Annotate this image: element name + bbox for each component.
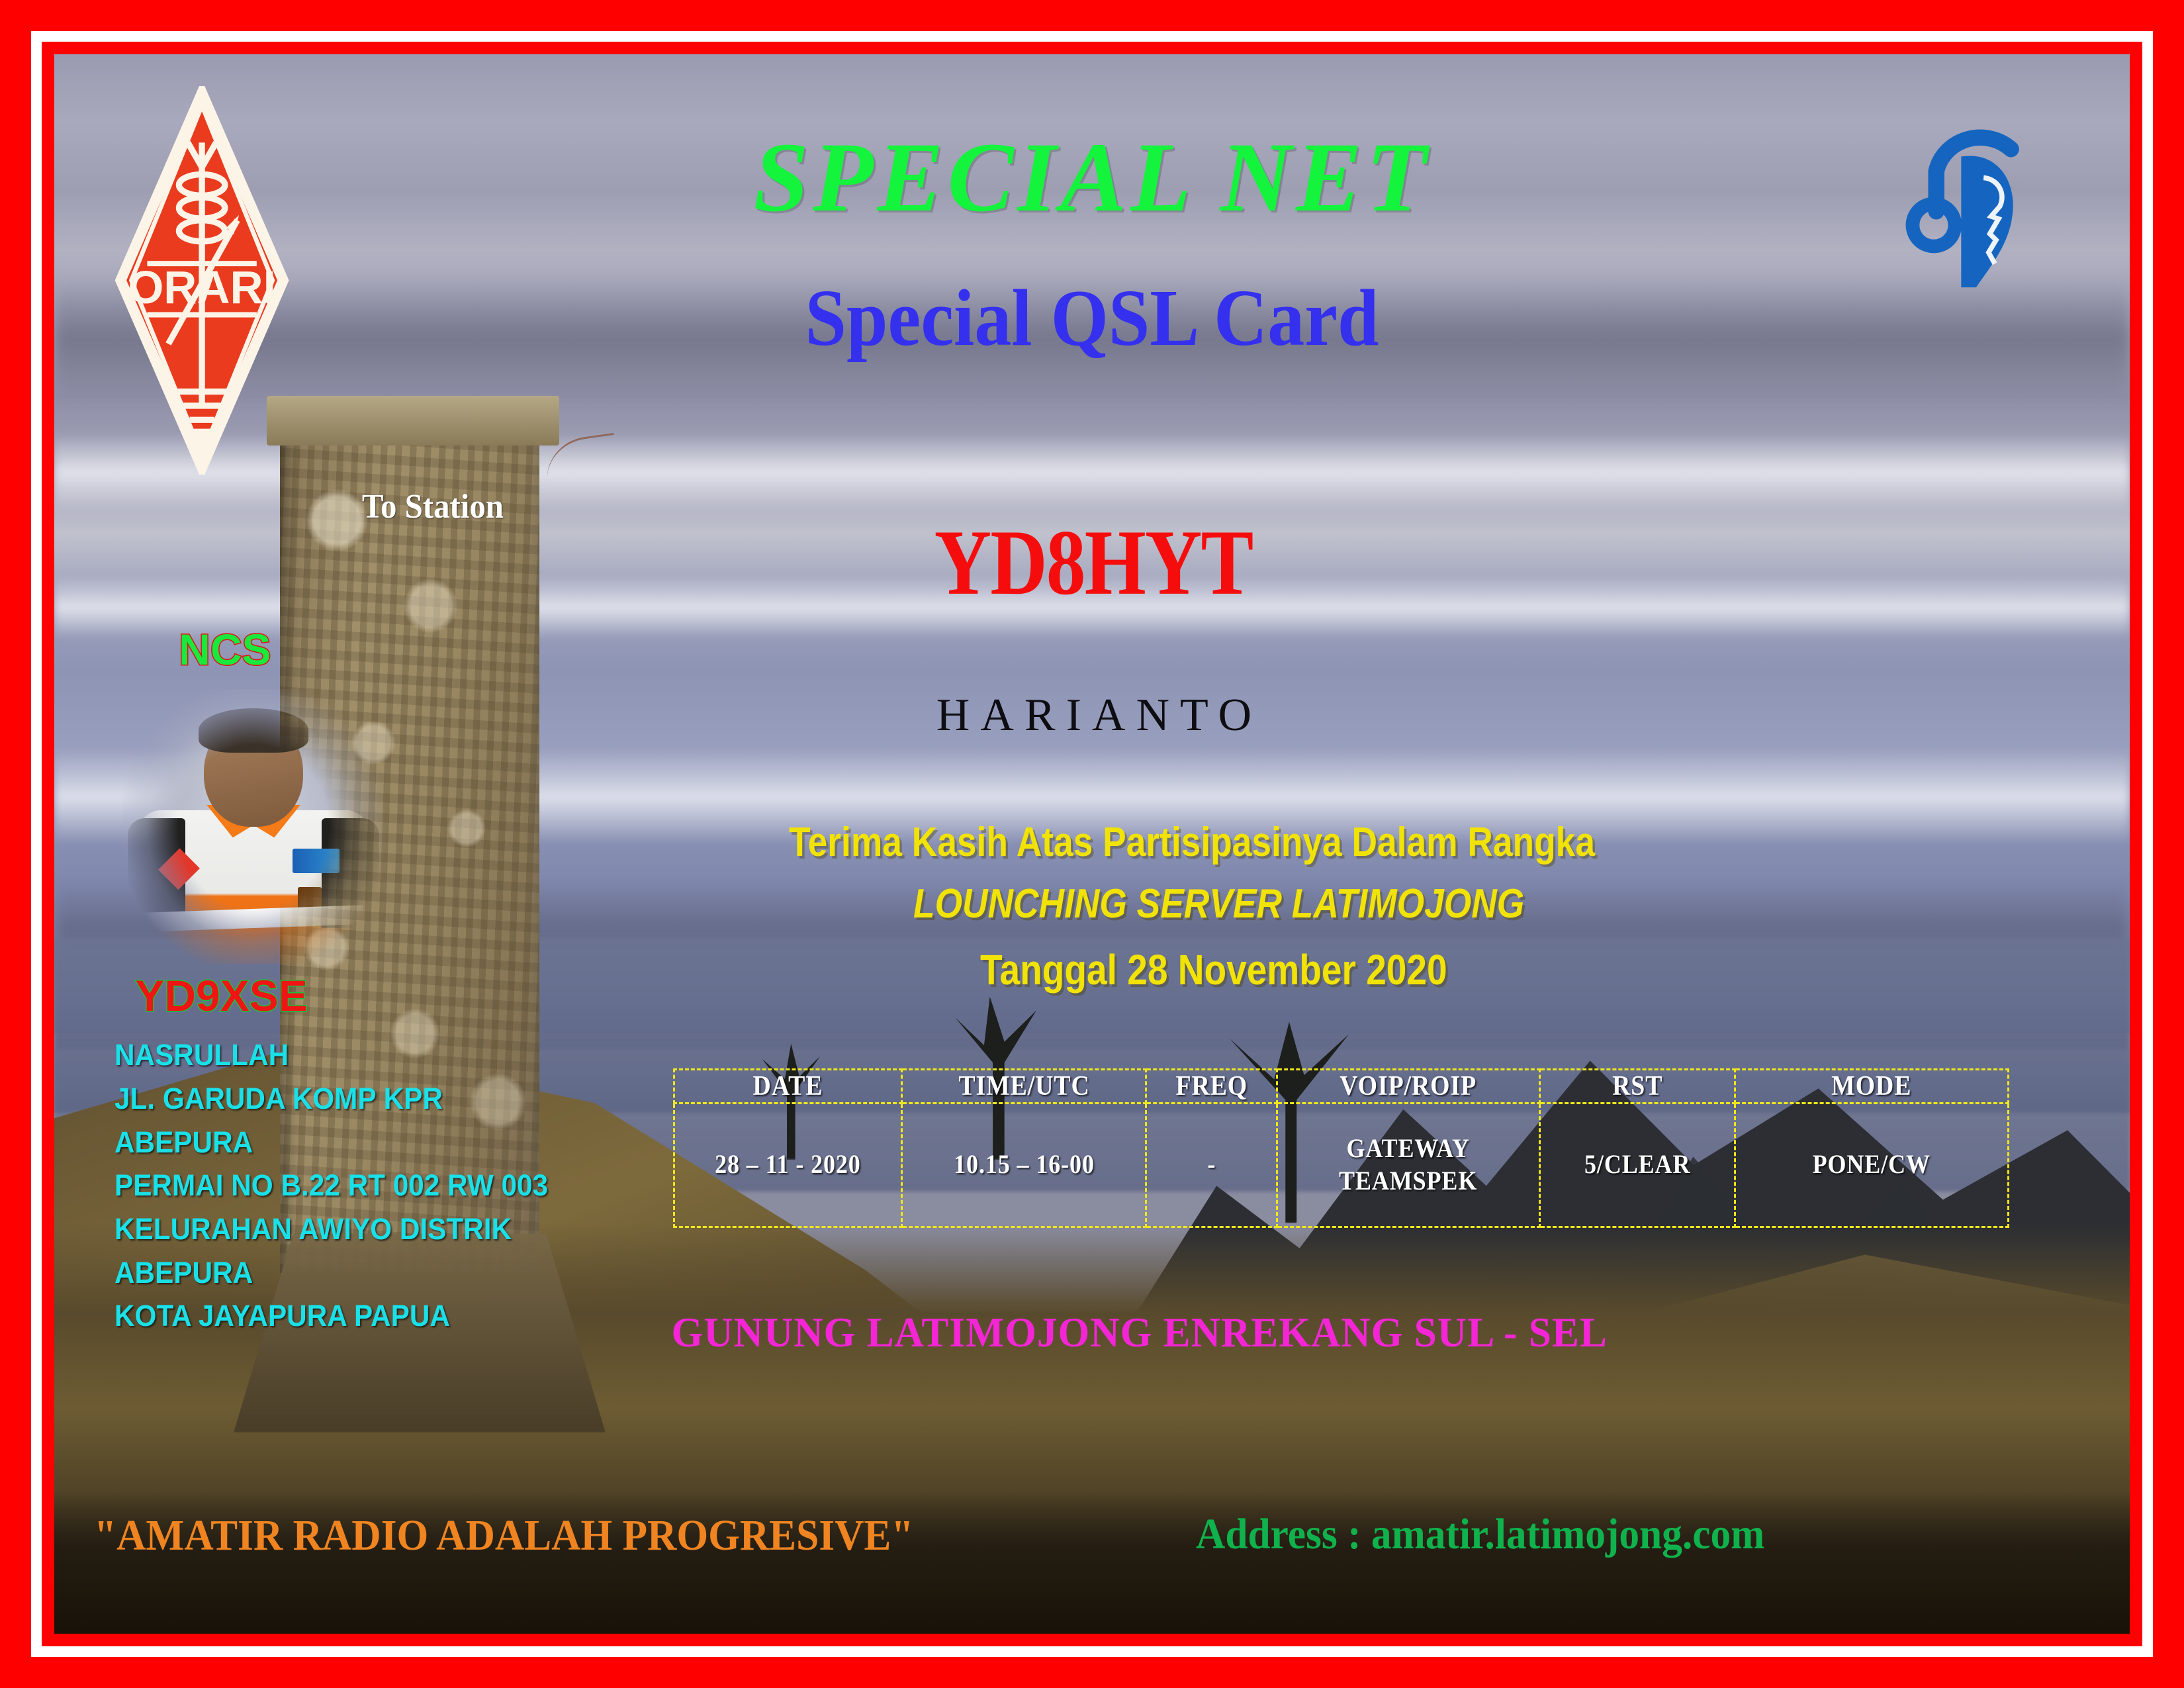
to-station-label: To Station xyxy=(362,487,504,526)
cell-voip-line1: GATEWAY xyxy=(1347,1133,1470,1163)
address-line: ABEPURA xyxy=(114,1251,548,1295)
address-line: KOTA JAYAPURA PAPUA xyxy=(114,1294,548,1338)
cell-time: 10.15 – 16-00 xyxy=(914,1103,1134,1227)
card-inner-red-border: ORARI xyxy=(42,42,2142,1646)
column-header-date: DATE xyxy=(685,1069,890,1103)
page-subtitle: Special QSL Card xyxy=(137,272,2046,365)
footer-web-address: Address : amatir.latimojong.com xyxy=(1196,1509,1764,1560)
column-header-rst: RST xyxy=(1549,1069,1725,1103)
qso-log-table: DATE TIME/UTC FREQ VOIP/ROIP RST MODE 28… xyxy=(673,1068,2010,1228)
address-line: NASRULLAH xyxy=(114,1033,548,1077)
sender-address-block: NASRULLAH JL. GARUDA KOMP KPR ABEPURA PE… xyxy=(114,1033,548,1338)
card-white-gap: ORARI xyxy=(31,31,2153,1657)
page-title: SPECIAL NET xyxy=(54,120,2130,234)
column-header-time: TIME/UTC xyxy=(914,1069,1134,1103)
cell-rst: 5/CLEAR xyxy=(1549,1103,1725,1227)
column-header-freq: FREQ xyxy=(1153,1069,1271,1103)
thanks-message: Terima Kasih Atas Partisipasinya Dalam R… xyxy=(789,819,1595,866)
cell-voip-line2: TEAMSPEK xyxy=(1339,1166,1477,1196)
recipient-callsign: YD8HYT xyxy=(934,510,1253,616)
address-line: PERMAI NO B.22 RT 002 RW 003 xyxy=(114,1164,548,1207)
table-row: 28 – 11 - 2020 10.15 – 16-00 - GATEWAY T… xyxy=(674,1103,2009,1227)
ncs-callsign: YD9XSE xyxy=(135,970,307,1021)
cell-date: 28 – 11 - 2020 xyxy=(685,1103,890,1227)
event-date: Tanggal 28 November 2020 xyxy=(980,945,1447,994)
operator-name: HARIANTO xyxy=(936,689,1262,742)
cell-mode: PONE/CW xyxy=(1749,1103,1995,1227)
cell-voip: GATEWAY TEAMSPEK xyxy=(1290,1103,1527,1227)
event-name: LOUNCHING SERVER LATIMOJONG xyxy=(913,880,1524,927)
event-location: GUNUNG LATIMOJONG ENREKANG SUL - SEL xyxy=(672,1308,1608,1357)
address-line: KELURAHAN AWIYO DISTRIK xyxy=(114,1207,548,1251)
address-line: JL. GARUDA KOMP KPR xyxy=(114,1077,548,1121)
address-line: ABEPURA xyxy=(114,1121,548,1164)
qsl-card: ORARI xyxy=(0,0,2184,1688)
pillar-cap xyxy=(267,396,559,445)
ncs-label: NCS xyxy=(179,624,271,675)
card-photo-background: ORARI xyxy=(54,54,2130,1634)
ncs-operator-photo xyxy=(122,689,384,964)
cell-freq: - xyxy=(1153,1103,1271,1227)
table-header-row: DATE TIME/UTC FREQ VOIP/ROIP RST MODE xyxy=(674,1069,2009,1103)
column-header-mode: MODE xyxy=(1749,1069,1995,1103)
footer-slogan: "AMATIR RADIO ADALAH PROGRESIVE" xyxy=(94,1511,913,1561)
column-header-voip: VOIP/ROIP xyxy=(1290,1069,1527,1103)
